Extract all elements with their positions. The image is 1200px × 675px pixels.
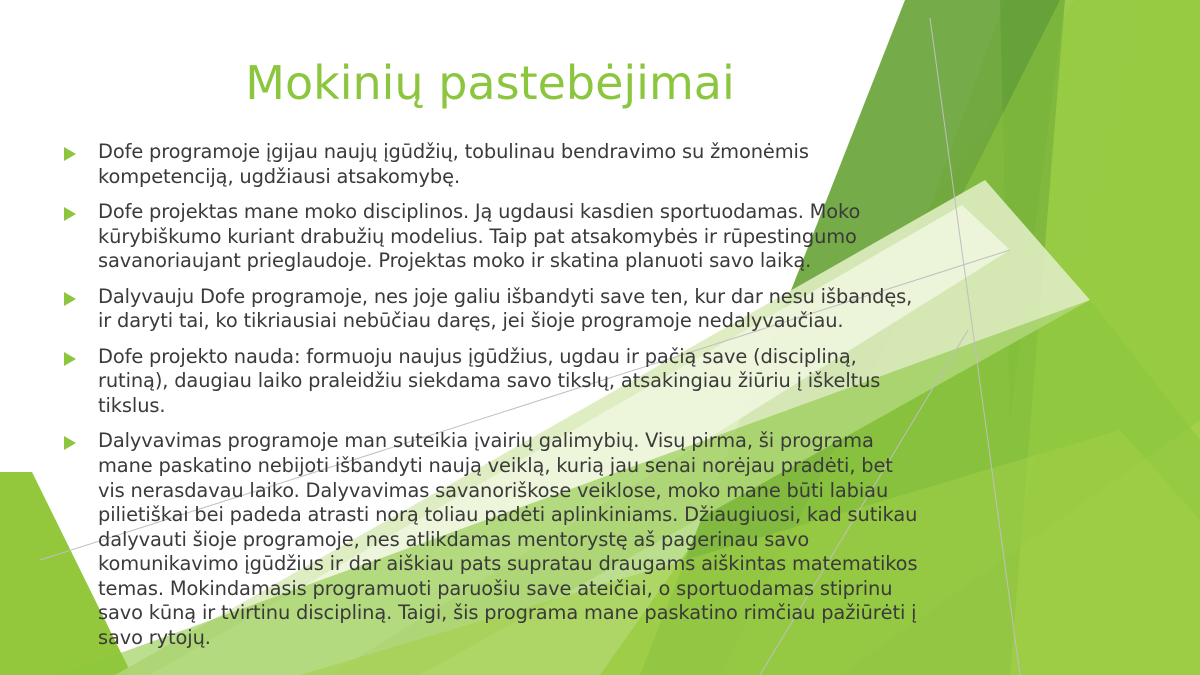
triangle-right-icon <box>64 429 98 450</box>
list-item-text: Dofe programoje įgijau naujų įgūdžių, to… <box>98 140 924 189</box>
list-item: Dofe projektas mane moko disciplinos. Ją… <box>64 200 924 274</box>
triangle-right-icon <box>64 285 98 306</box>
deco-shape-right-band <box>980 0 1200 675</box>
list-item: Dofe projekto nauda: formuoju naujus įgū… <box>64 345 924 419</box>
list-item-text: Dalyvauju Dofe programoje, nes joje gali… <box>98 285 924 334</box>
triangle-right-icon <box>64 200 98 221</box>
list-item-text: Dofe projektas mane moko disciplinos. Ją… <box>98 200 924 274</box>
list-item-text: Dofe projekto nauda: formuoju naujus įgū… <box>98 345 924 419</box>
triangle-right-icon <box>64 140 98 161</box>
deco-shape-dark-overlap <box>1000 0 1065 420</box>
bullet-list: Dofe programoje įgijau naujų įgūdžių, to… <box>64 140 924 661</box>
list-item: Dalyvauju Dofe programoje, nes joje gali… <box>64 285 924 334</box>
slide-title: Mokinių pastebėjimai <box>60 58 920 109</box>
slide-canvas: Mokinių pastebėjimai Dofe programoje įgi… <box>0 0 1200 675</box>
list-item: Dofe programoje įgijau naujų įgūdžių, to… <box>64 140 924 189</box>
deco-hairline-top <box>930 18 1020 675</box>
list-item-text: Dalyvavimas programoje man suteikia įvai… <box>98 429 924 650</box>
triangle-right-icon <box>64 345 98 366</box>
list-item: Dalyvavimas programoje man suteikia įvai… <box>64 429 924 650</box>
